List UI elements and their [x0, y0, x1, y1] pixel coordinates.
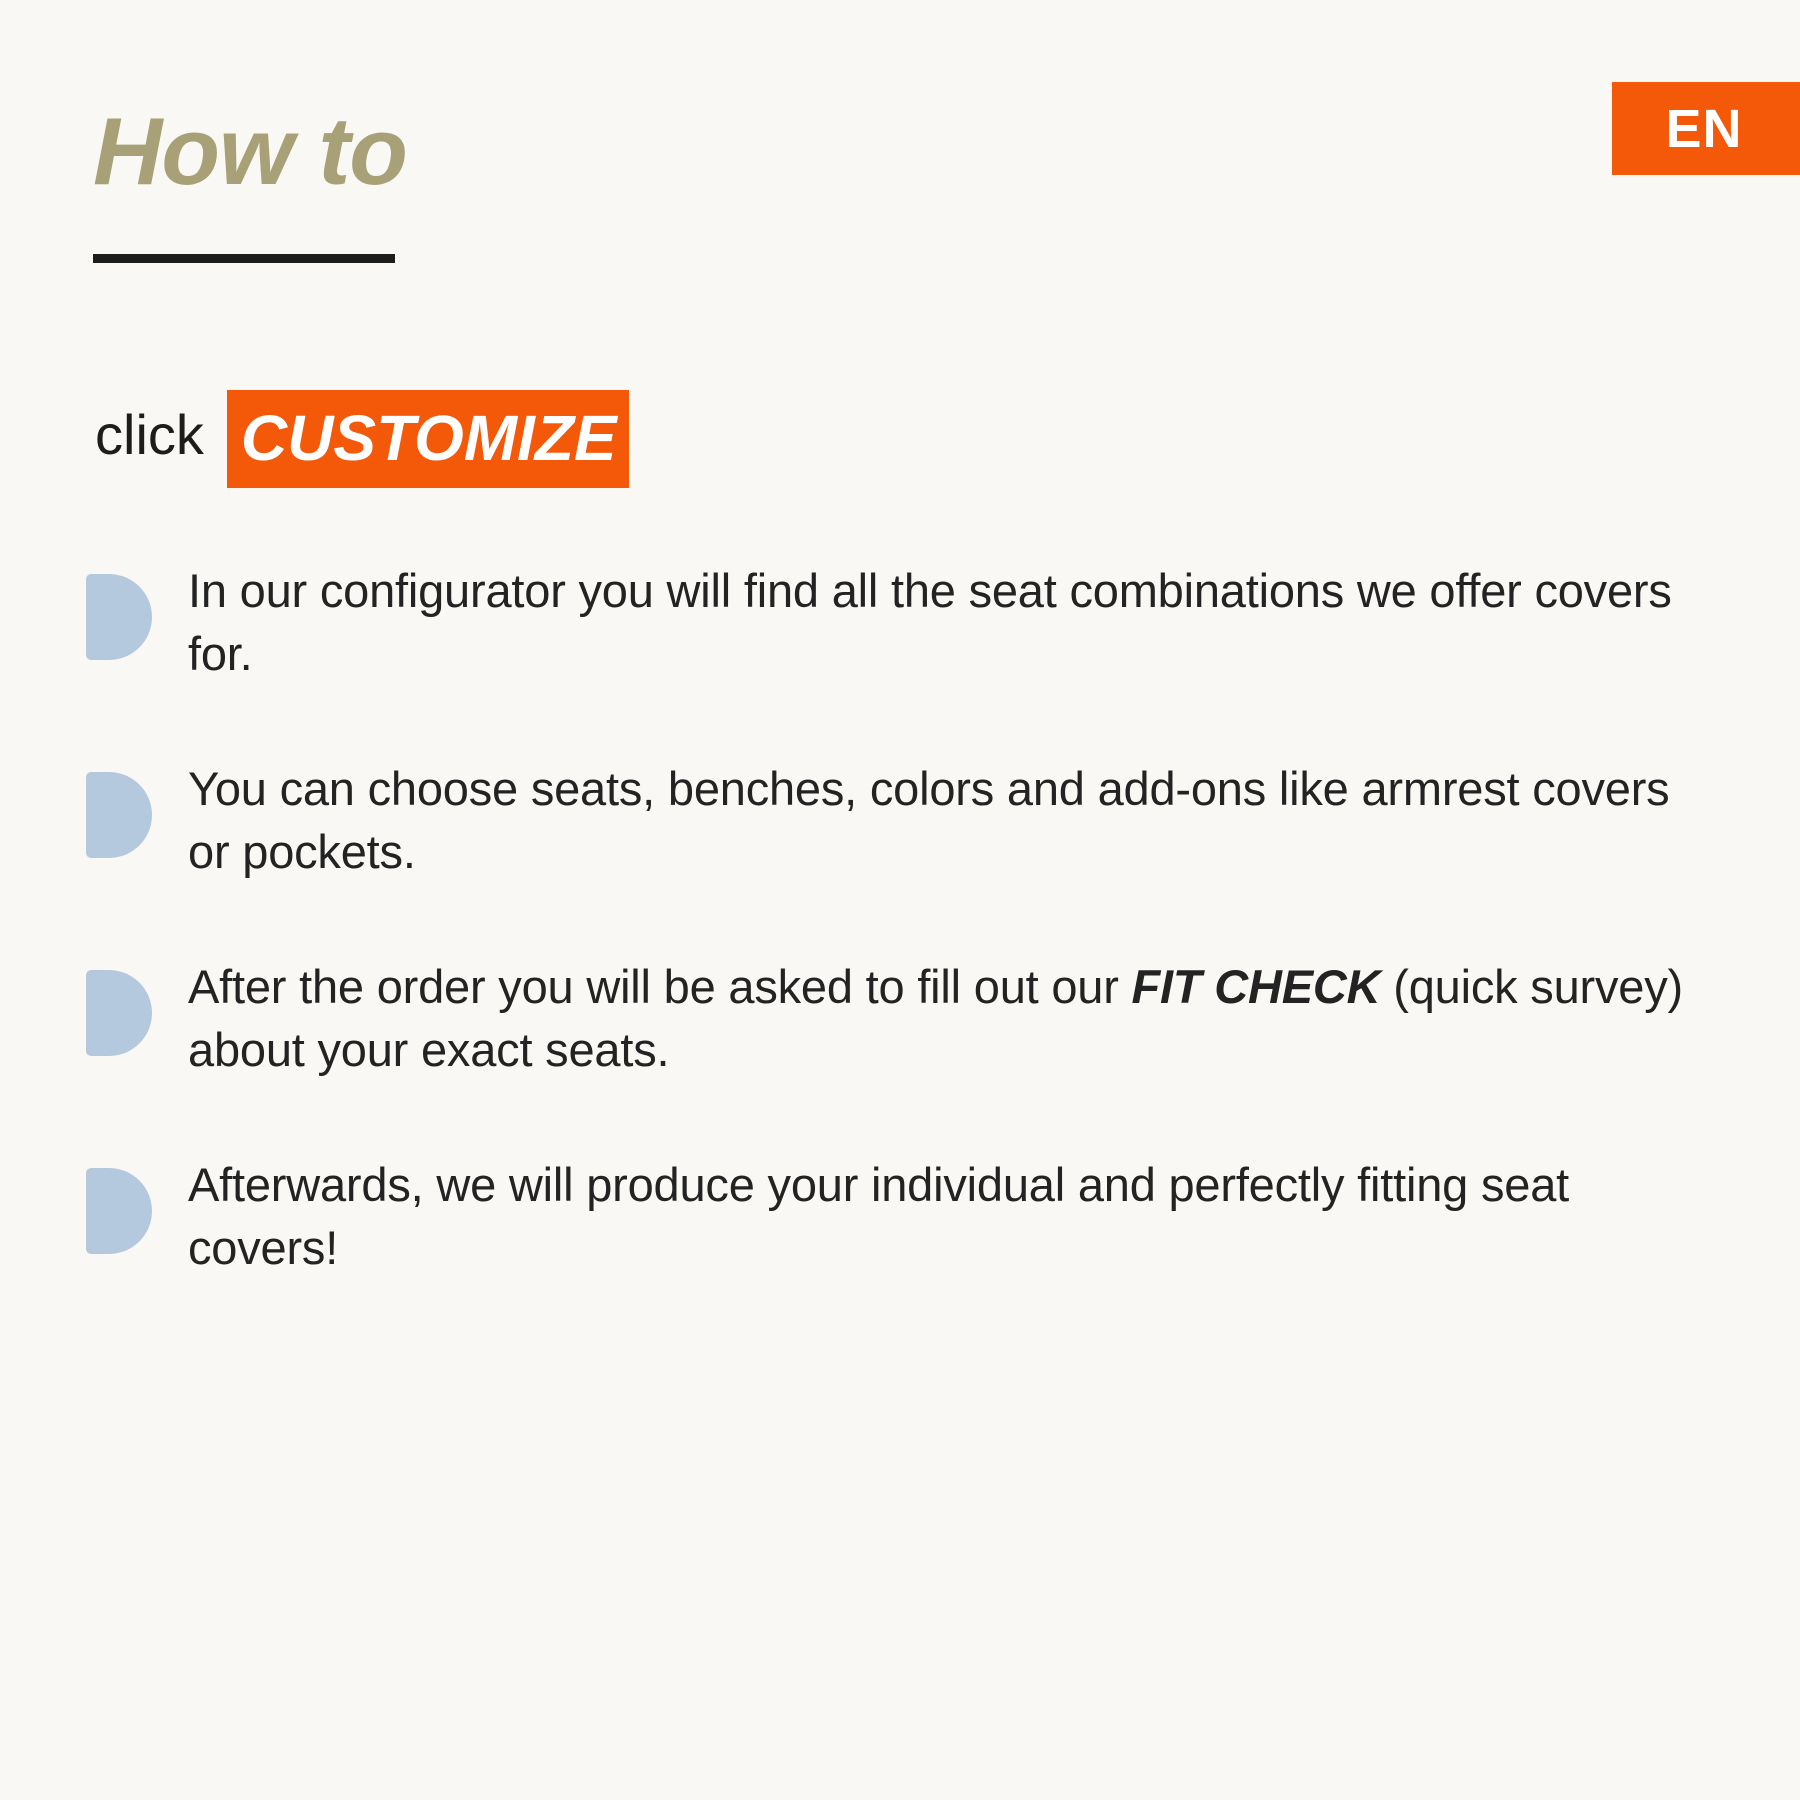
- title-underline-rule: [93, 254, 395, 263]
- half-disc-bullet-icon: [86, 772, 152, 858]
- list-item-text: After the order you will be asked to fil…: [188, 956, 1706, 1081]
- cta-prefix-label: click: [95, 407, 204, 463]
- half-disc-bullet-icon: [86, 970, 152, 1056]
- how-to-steps-list: In our configurator you will find all th…: [86, 560, 1706, 1279]
- cta-instruction-line: click CUSTOMIZE: [95, 384, 629, 482]
- list-item-text-before: After the order you will be asked to fil…: [188, 960, 1132, 1013]
- list-item-text: Afterwards, we will produce your individ…: [188, 1154, 1706, 1279]
- list-item-text: In our configurator you will find all th…: [188, 560, 1706, 685]
- half-disc-bullet-icon: [86, 574, 152, 660]
- fit-check-emphasis: FIT CHECK: [1132, 960, 1381, 1013]
- list-item: Afterwards, we will produce your individ…: [86, 1154, 1706, 1279]
- half-disc-bullet-icon: [86, 1168, 152, 1254]
- customize-button-highlight[interactable]: CUSTOMIZE: [227, 390, 629, 488]
- list-item-text: You can choose seats, benches, colors an…: [188, 758, 1706, 883]
- language-badge-label: EN: [1665, 102, 1742, 156]
- language-badge[interactable]: EN: [1612, 82, 1800, 175]
- list-item: In our configurator you will find all th…: [86, 560, 1706, 685]
- heading-block: How to: [93, 104, 407, 263]
- page-title: How to: [93, 104, 407, 200]
- list-item: After the order you will be asked to fil…: [86, 956, 1706, 1081]
- list-item: You can choose seats, benches, colors an…: [86, 758, 1706, 883]
